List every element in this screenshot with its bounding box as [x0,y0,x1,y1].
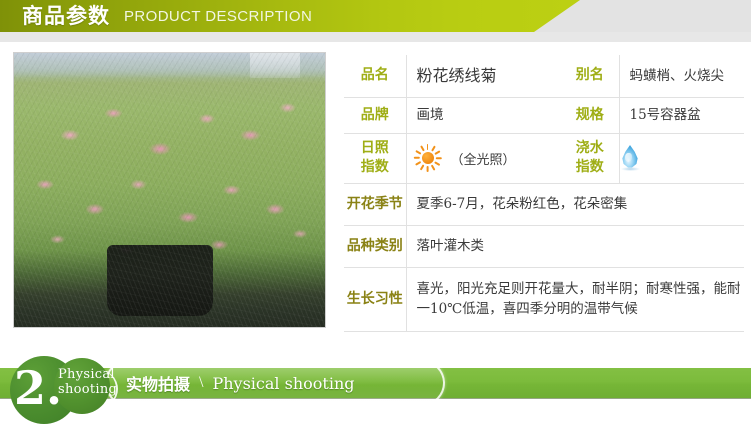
bottom-bar-title-cn: 实物拍摄 [126,371,190,395]
bottom-bar-title-en: Physical shooting [212,374,354,393]
step-badge-number: 2. [14,364,62,412]
spec-value-specification: 15号容器盆 [619,97,744,133]
water-drop-highlight [625,153,632,162]
spec-value-growth-habit: 喜光，阳光充足则开花量大，耐半阴；耐寒性强，能耐一10℃低温，喜四季分明的温带气… [406,267,744,331]
product-photo-image [14,53,325,327]
page-title-en: PRODUCT DESCRIPTION [124,6,312,28]
sun-core [422,152,434,164]
table-row: 日照 指数 [344,133,744,183]
section-physical-shooting-banner: 实物拍摄 \ Physical shooting 2. Physical sho… [0,352,751,429]
spec-label-product-name: 品名 [344,55,406,97]
table-row: 品名 粉花绣线菊 别名 蚂蟥梢、火烧尖 [344,55,744,97]
product-photo [13,52,326,328]
spec-value-brand: 画境 [406,97,561,133]
spec-value-sunlight: （全光照） [406,133,561,183]
spec-label-growth-habit: 生长习性 [344,267,406,331]
product-spec-table: 品名 粉花绣线菊 别名 蚂蟥梢、火烧尖 品牌 画境 规格 15号容器盆 日照 指… [344,55,744,332]
sun-icon [413,143,443,173]
bottom-bar-text: 实物拍摄 \ Physical shooting [126,370,354,396]
table-row: 品牌 画境 规格 15号容器盆 [344,97,744,133]
spec-label-specification: 规格 [561,97,619,133]
spec-value-product-name: 粉花绣线菊 [406,55,561,97]
table-row: 生长习性 喜光，阳光充足则开花量大，耐半阴；耐寒性强，能耐一10℃低温，喜四季分… [344,267,744,331]
spec-label-watering-line2: 指数 [561,158,619,177]
section-header-banner: 商品参数 PRODUCT DESCRIPTION [0,0,751,44]
water-drop-shadow [621,167,640,171]
spec-label-brand: 品牌 [344,97,406,133]
header-gray-strip [0,32,751,42]
page-title-cn: 商品参数 [22,2,110,32]
spec-label-alias: 别名 [561,55,619,97]
water-drop-icon [620,143,642,173]
spec-value-watering [619,133,744,183]
product-description-page: 商品参数 PRODUCT DESCRIPTION 品名 粉花绣线菊 别名 蚂蟥梢… [0,0,751,429]
spec-label-sunlight-line2: 指数 [344,158,406,177]
spec-label-bloom-season: 开花季节 [344,183,406,225]
spec-value-sunlight-label: （全光照） [451,149,516,168]
spec-value-bloom-season: 夏季6-7月，花朵粉红色，花朵密集 [406,183,744,225]
spec-value-alias: 蚂蟥梢、火烧尖 [619,55,744,97]
bottom-bar-separator: \ [199,374,203,392]
spec-label-watering-line1: 浇水 [561,139,619,158]
spec-value-variety-type: 落叶灌木类 [406,225,744,267]
spec-label-variety-type: 品种类别 [344,225,406,267]
table-row: 开花季节 夏季6-7月，花朵粉红色，花朵密集 [344,183,744,225]
photo-foliage-texture [14,53,325,327]
spec-label-watering-index: 浇水 指数 [561,133,619,183]
spec-label-sunlight-index: 日照 指数 [344,133,406,183]
spec-label-sunlight-line1: 日照 [344,139,406,158]
table-row: 品种类别 落叶灌木类 [344,225,744,267]
